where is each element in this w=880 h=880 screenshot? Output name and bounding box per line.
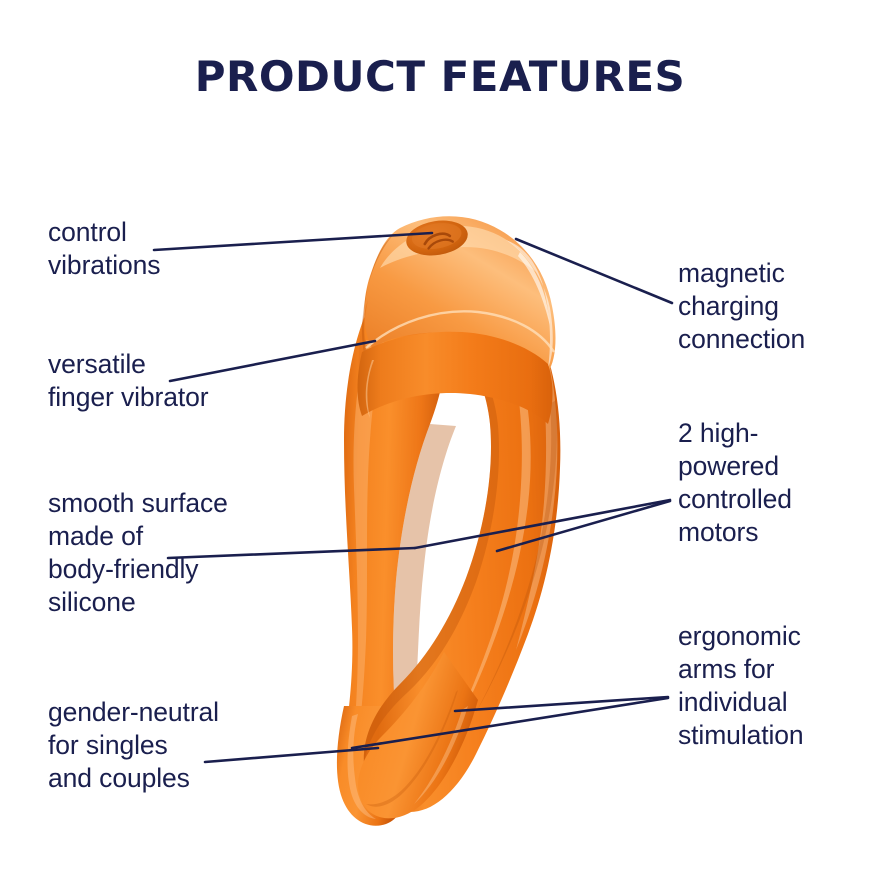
infographic-page: PRODUCT FEATURES	[0, 0, 880, 880]
product-illustration	[0, 0, 880, 880]
